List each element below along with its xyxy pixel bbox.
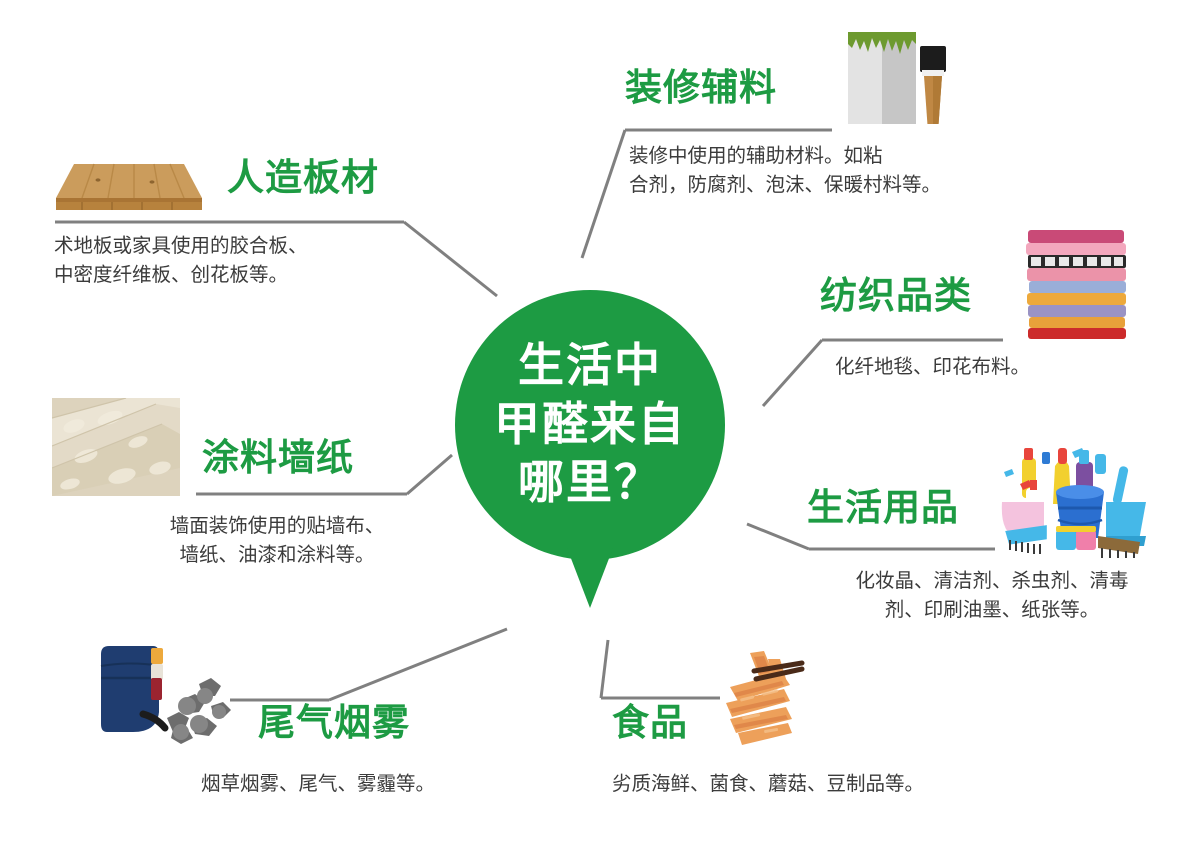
node-desc-artificial-board: 术地板或家具使用的胶合板、 中密度纤维板、创花板等。 [54, 232, 308, 291]
connector-food-diagonal [601, 640, 608, 698]
car-exhaust-icon [95, 640, 235, 748]
connector-artificial-board-diagonal [404, 222, 497, 296]
textile-stack-icon [1022, 228, 1132, 340]
node-desc-paint-wallpaper: 墙面装饰使用的贴墙布、 墙纸、油漆和涂料等。 [127, 512, 427, 571]
node-title-exhaust-smoke: 尾气烟雾 [258, 705, 410, 742]
node-title-textiles: 纺织品类 [820, 278, 972, 315]
connector-decoration-materials-diagonal [582, 130, 625, 258]
node-title-paint-wallpaper: 涂料墙纸 [202, 440, 354, 477]
node-desc-food: 劣质海鲜、菌食、蘑菇、豆制品等。 [612, 770, 924, 799]
paint-bucket-icon [838, 14, 948, 124]
infographic-canvas: 生活中 甲醛来自 哪里？ 装修辅料 装修中使用的辅助材料。如粘 合剂，防腐剂、泡… [0, 0, 1200, 846]
node-title-artificial-board: 人造板材 [227, 160, 379, 197]
node-desc-household-goods: 化妆晶、清洁剂、杀虫剂、清毒 剂、印刷油墨、纸张等。 [802, 567, 1182, 626]
node-title-household-goods: 生活用品 [807, 490, 959, 527]
node-title-food: 食品 [612, 705, 688, 742]
node-desc-textiles: 化纤地毯、印花布料。 [835, 353, 1030, 382]
connector-household-goods-diagonal [747, 524, 809, 549]
connector-textiles-diagonal [763, 340, 822, 406]
cleaning-supplies-icon [1000, 440, 1150, 558]
wallpaper-roll-icon [52, 398, 180, 496]
node-title-decoration-materials: 装修辅料 [625, 70, 777, 107]
center-bubble-text: 生活中 甲醛来自 哪里？ [494, 337, 686, 514]
center-bubble-tail [567, 548, 613, 608]
node-desc-decoration-materials: 装修中使用的辅助材料。如粘 合剂，防腐剂、泡沫、保暖村料等。 [629, 142, 941, 201]
connector-paint-wallpaper-diagonal [407, 455, 452, 494]
center-bubble: 生活中 甲醛来自 哪里？ [455, 290, 725, 560]
connector-exhaust-smoke-diagonal [329, 629, 507, 700]
wood-board-icon [52, 158, 202, 220]
node-desc-exhaust-smoke: 烟草烟雾、尾气、雾霾等。 [158, 770, 478, 799]
food-snack-icon [712, 645, 820, 755]
